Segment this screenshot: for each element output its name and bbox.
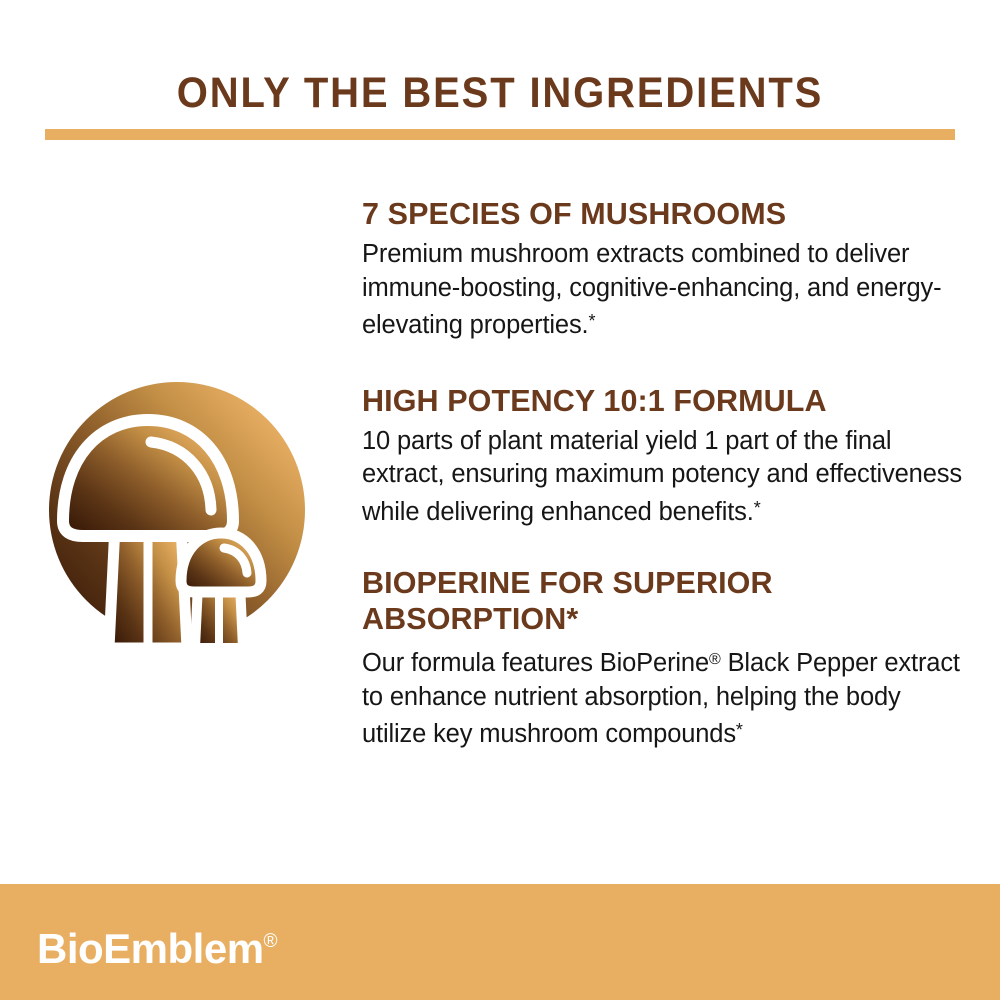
title-divider (45, 129, 955, 140)
footnote-asterisk: * (736, 720, 743, 740)
feature-body-text: 10 parts of plant material yield 1 part … (362, 427, 962, 526)
feature-high-potency: HIGH POTENCY 10:1 FORMULA 10 parts of pl… (362, 383, 970, 530)
feature-body: Premium mushroom extracts combined to de… (362, 238, 970, 343)
footnote-asterisk: * (589, 311, 596, 331)
mushroom-icon (47, 380, 337, 655)
feature-body: 10 parts of plant material yield 1 part … (362, 425, 970, 530)
feature-seven-species: 7 SPECIES OF MUSHROOMS Premium mushroom … (362, 196, 970, 343)
feature-body: Our formula features BioPerine® Black Pe… (362, 643, 970, 752)
brand-name: BioEmblem (37, 925, 264, 972)
registered-mark: ® (709, 651, 721, 668)
ingredients-infographic: ONLY THE BEST INGREDIENTS (0, 0, 1000, 1000)
feature-title: BIOPERINE FOR SUPERIOR ABSORPTION* (362, 565, 970, 637)
brand-logo: BioEmblem® (37, 919, 278, 972)
feature-body-text: Premium mushroom extracts combined to de… (362, 240, 942, 339)
feature-body-text-part1: Our formula features BioPerine (362, 649, 709, 677)
feature-list: 7 SPECIES OF MUSHROOMS Premium mushroom … (362, 196, 970, 752)
brand-registered-mark: ® (264, 931, 278, 952)
feature-bioperine: BIOPERINE FOR SUPERIOR ABSORPTION* Our f… (362, 565, 970, 752)
page-title: ONLY THE BEST INGREDIENTS (35, 67, 965, 119)
footnote-asterisk: * (754, 498, 761, 518)
mushroom-badge (47, 380, 337, 655)
feature-title: 7 SPECIES OF MUSHROOMS (362, 196, 970, 232)
feature-title: HIGH POTENCY 10:1 FORMULA (362, 383, 970, 419)
